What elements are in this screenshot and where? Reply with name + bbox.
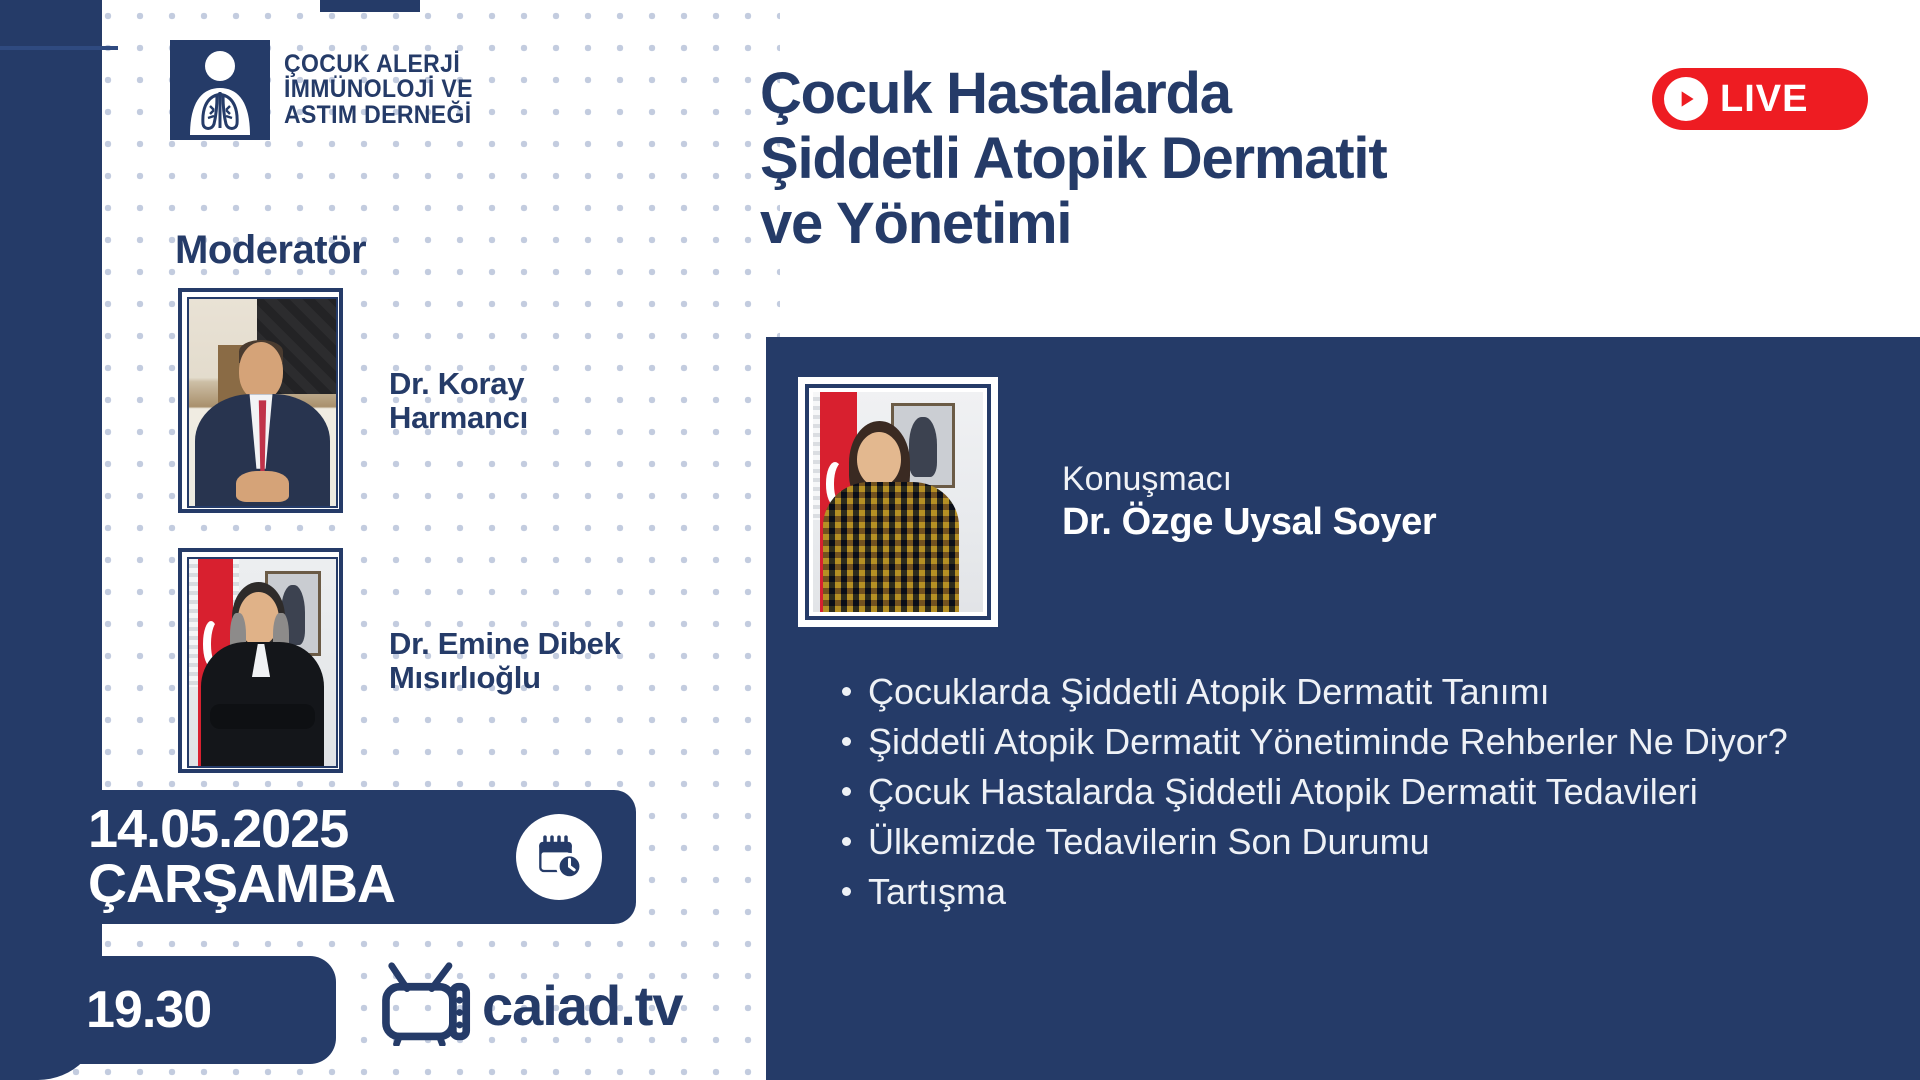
date-badge: 14.05.2025 ÇARŞAMBA xyxy=(56,790,636,924)
calendar-clock-icon xyxy=(516,814,602,900)
list-item: Şiddetli Atopik Dermatit Yönetiminde Reh… xyxy=(868,719,1920,765)
channel-label[interactable]: caiad.tv xyxy=(482,973,683,1038)
list-item: Tartışma xyxy=(868,869,1920,915)
play-icon xyxy=(1664,77,1708,121)
top-navy-rule xyxy=(0,46,118,50)
moderator-item-2: Dr. Emine Dibek Mısırlıoğlu xyxy=(178,548,689,773)
moderator-photo-1 xyxy=(178,288,343,513)
event-weekday: ÇARŞAMBA xyxy=(88,857,395,912)
moderator-heading: Moderatör xyxy=(175,228,366,273)
topic-list: Çocuklarda Şiddetli Atopik Dermatit Tanı… xyxy=(832,669,1920,919)
logo-line-1: ÇOCUK ALERJİ xyxy=(284,52,473,78)
moderator-name-1-line1: Dr. Koray xyxy=(389,367,639,400)
logo-wordmark: ÇOCUK ALERJİ İMMÜNOLOJİ VE ASTIM DERNEĞİ xyxy=(284,52,489,129)
time-badge: 19.30 xyxy=(56,956,336,1064)
speaker-role: Konuşmacı xyxy=(1062,459,1436,500)
speaker-photo xyxy=(798,377,998,627)
channel-row[interactable]: caiad.tv xyxy=(380,960,683,1051)
moderator-item-1: Dr. Koray Harmancı xyxy=(178,288,639,513)
moderator-name-2-line2: Mısırlıoğlu xyxy=(389,661,689,694)
person-lungs-icon xyxy=(170,40,270,140)
moderator-name-2-line1: Dr. Emine Dibek xyxy=(389,627,689,660)
poster-canvas: ÇOCUK ALERJİ İMMÜNOLOJİ VE ASTIM DERNEĞİ… xyxy=(0,0,1920,1080)
television-icon xyxy=(380,960,476,1051)
title-line-1: Çocuk Hastalarda xyxy=(760,62,1760,127)
association-logo: ÇOCUK ALERJİ İMMÜNOLOJİ VE ASTIM DERNEĞİ xyxy=(170,40,489,140)
logo-line-2: İMMÜNOLOJİ VE xyxy=(284,77,473,103)
speaker-name: Dr. Özge Uysal Soyer xyxy=(1062,500,1436,546)
event-time: 19.30 xyxy=(86,980,211,1040)
moderator-photo-2 xyxy=(178,548,343,773)
event-date: 14.05.2025 xyxy=(88,802,395,857)
moderator-name-1-line2: Harmancı xyxy=(389,401,639,434)
content-panel: Konuşmacı Dr. Özge Uysal Soyer Çocuklard… xyxy=(766,337,1920,1080)
title-line-3: ve Yönetimi xyxy=(760,192,1760,257)
list-item: Çocuk Hastalarda Şiddetli Atopik Dermati… xyxy=(868,769,1920,815)
list-item: Çocuklarda Şiddetli Atopik Dermatit Tanı… xyxy=(868,669,1920,715)
logo-line-3: ASTIM DERNEĞİ xyxy=(284,103,473,129)
live-badge[interactable]: LIVE xyxy=(1652,68,1868,130)
moderator-name-1: Dr. Koray Harmancı xyxy=(389,367,639,434)
moderator-name-2: Dr. Emine Dibek Mısırlıoğlu xyxy=(389,627,689,694)
list-item: Ülkemizde Tedavilerin Son Durumu xyxy=(868,819,1920,865)
title-line-2: Şiddetli Atopik Dermatit xyxy=(760,127,1760,192)
speaker-block: Konuşmacı Dr. Özge Uysal Soyer xyxy=(798,377,1436,627)
live-label: LIVE xyxy=(1720,78,1808,121)
top-navy-tab xyxy=(320,0,420,12)
page-title: Çocuk Hastalarda Şiddetli Atopik Dermati… xyxy=(760,62,1760,257)
